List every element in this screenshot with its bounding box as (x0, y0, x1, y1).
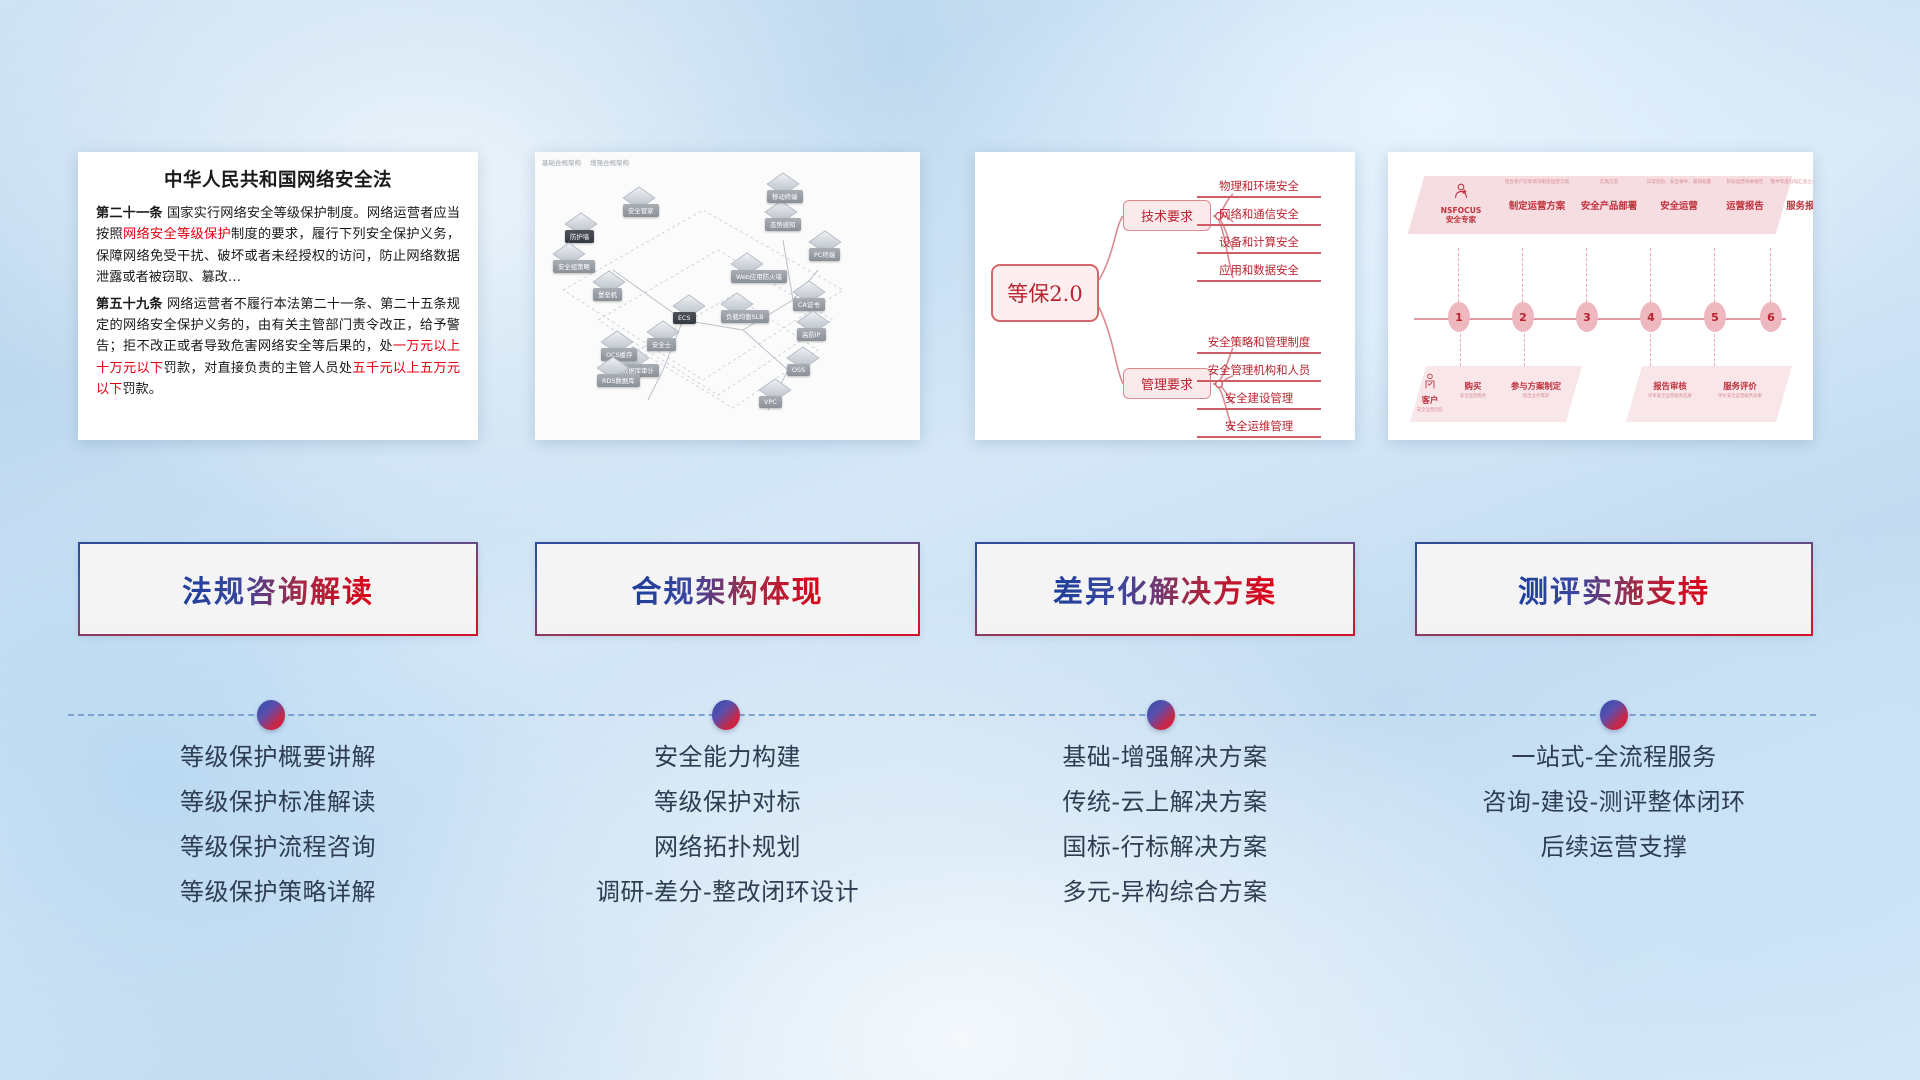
roadmap-step-1: 实施方案 安全产品部署 (1572, 180, 1646, 212)
roadmap-dash-1 (1522, 248, 1523, 302)
roadmap-dash-lower-3 (1714, 334, 1715, 366)
roadmap-dash-5 (1770, 248, 1771, 302)
mindmap-leaf-mgmt-2: 安全建设管理 (1197, 390, 1321, 410)
architecture-tab-1: 增强合规架构 (590, 157, 629, 167)
roadmap-dash-4 (1714, 248, 1715, 302)
list-item: 基础-增强解决方案 (975, 745, 1355, 769)
title-box-2[interactable]: 差异化解决方案 (975, 542, 1355, 636)
law-title: 中华人民共和国网络安全法 (96, 166, 460, 192)
mindmap-leaf-tech-0: 物理和环境安全 (1197, 178, 1321, 198)
architecture-node: RDS数据库 (597, 374, 640, 387)
roadmap-top-band-content: NSFOCUS 安全专家 结合客户实际情况制定运营方案 制定运营方案 实施方案 … (1416, 176, 1784, 234)
list-column-2: 基础-增强解决方案 传统-云上解决方案 国标-行标解决方案 多元-异构综合方案 (975, 745, 1355, 925)
roadmap-tag-1-sub: 提出业务需求 (1500, 394, 1572, 400)
architecture-tab-0: 基础合规架构 (542, 157, 581, 167)
timeline-dashed-line (68, 714, 1816, 716)
roadmap-tag-3-sub: 评价安全运营服务效果 (1706, 394, 1774, 400)
architecture-node: 高防IP (797, 328, 826, 341)
law-seg-2-4: 罚款。 (122, 382, 162, 397)
roadmap-canvas: NSFOCUS 安全专家 结合客户实际情况制定运营方案 制定运营方案 实施方案 … (1388, 152, 1813, 440)
architecture-node: 移动终端 (767, 190, 803, 203)
list-item: 等级保护对标 (535, 790, 920, 814)
roadmap-dash-lower-1 (1524, 334, 1525, 366)
roadmap-step-0-sub: 结合客户实际情况制定运营方案 (1500, 180, 1574, 186)
title-text-0: 法规咨询解读 (182, 567, 374, 611)
roadmap-dash-lower-0 (1460, 334, 1461, 366)
roadmap-step-4: 整半年度分吨汇总之总体运营效果 服务报告 (1768, 180, 1813, 212)
expert-person-icon (1451, 182, 1471, 202)
architecture-canvas: 基础合规架构 增强合规架构 (535, 152, 920, 440)
architecture-node: 态势感知 (765, 218, 801, 231)
timeline (0, 695, 1920, 735)
mindmap-root-node: 等保2.0 (991, 264, 1099, 322)
title-box-1[interactable]: 合规架构体现 (535, 542, 920, 636)
roadmap-step-4-title: 服务报告 (1768, 198, 1813, 212)
roadmap-step-1-sub: 实施方案 (1572, 180, 1646, 186)
title-box-row: 法规咨询解读 合规架构体现 差异化解决方案 测评实施支持 (0, 542, 1920, 642)
architecture-node: ECS (673, 312, 696, 324)
list-item: 调研-差分-整改闭环设计 (535, 880, 920, 904)
title-text-2: 差异化解决方案 (1053, 567, 1277, 611)
timeline-dot-0[interactable] (257, 700, 285, 730)
roadmap-dash-3 (1650, 248, 1651, 302)
roadmap-tag-1-title: 参与方案制定 (1500, 380, 1572, 392)
roadmap-step-2: 日常巡检、安全事件、漏洞处置 安全运营 (1642, 180, 1716, 212)
list-item: 咨询-建设-测评整体闭环 (1415, 790, 1813, 814)
timeline-dot-3[interactable] (1600, 700, 1628, 730)
list-column-1: 安全能力构建 等级保护对标 网络拓扑规划 调研-差分-整改闭环设计 (535, 745, 920, 925)
architecture-node: 安全组策略 (553, 260, 595, 273)
roadmap-tag-3: 服务评价 评价安全运营服务效果 (1706, 380, 1774, 400)
architecture-node: CA证书 (793, 298, 825, 311)
architecture-node: 堡垒机 (593, 288, 622, 301)
architecture-diagram-card: 基础合规架构 增强合规架构 (535, 152, 920, 440)
image-card-row: 中华人民共和国网络安全法 第二十一条 国家实行网络安全等级保护制度。网络运营者应… (0, 152, 1920, 440)
title-text-3: 测评实施支持 (1518, 567, 1710, 611)
mindmap-canvas: 等保2.0 技术要求 物理和环境安全 网络和通信安全 设备和计算安全 应用和数据… (975, 152, 1355, 440)
roadmap-step-0: 结合客户实际情况制定运营方案 制定运营方案 (1500, 180, 1574, 212)
roadmap-step-2-title: 安全运营 (1642, 198, 1716, 212)
roadmap-tag-3-title: 服务评价 (1706, 380, 1774, 392)
roadmap-dash-0 (1458, 248, 1459, 302)
architecture-node: VPC (759, 396, 782, 408)
mindmap-leaf-mgmt-1: 安全管理机构和人员 (1197, 362, 1321, 382)
roadmap-dash-2 (1586, 248, 1587, 302)
law-card-body: 中华人民共和国网络安全法 第二十一条 国家实行网络安全等级保护制度。网络运营者应… (78, 152, 478, 415)
roadmap-number-4: 4 (1640, 302, 1662, 332)
roadmap-expert-block: NSFOCUS 安全专家 (1430, 182, 1492, 225)
list-item: 多元-异构综合方案 (975, 880, 1355, 904)
roadmap-number-3: 3 (1576, 302, 1598, 332)
roadmap-customer-line2: 安全运营团队 (1406, 408, 1454, 414)
list-item: 一站式-全流程服务 (1415, 745, 1813, 769)
roadmap-tag-0: 购买 安全运营服务 (1446, 380, 1500, 400)
title-box-3[interactable]: 测评实施支持 (1415, 542, 1813, 636)
mindmap-leaf-tech-2: 设备和计算安全 (1197, 234, 1321, 254)
roadmap-expert-line2: 安全专家 (1430, 215, 1492, 224)
architecture-node: 安全管家 (623, 204, 659, 217)
roadmap-number-5: 5 (1704, 302, 1726, 332)
timeline-dot-1[interactable] (712, 700, 740, 730)
roadmap-tag-2-title: 报告审核 (1636, 380, 1704, 392)
architecture-node: OSS (787, 364, 810, 376)
list-item: 传统-云上解决方案 (975, 790, 1355, 814)
roadmap-dash-lower-2 (1650, 334, 1651, 366)
roadmap-step-0-title: 制定运营方案 (1500, 198, 1574, 212)
list-item: 等级保护策略详解 (78, 880, 478, 904)
law-article-label-1: 第二十一条 (96, 206, 163, 221)
roadmap-tag-0-sub: 安全运营服务 (1446, 394, 1500, 400)
roadmap-tag-1: 参与方案制定 提出业务需求 (1500, 380, 1572, 400)
law-seg-1-1: 网络安全等级保护 (123, 227, 231, 242)
law-article-label-2: 第五十九条 (96, 297, 163, 312)
mindmap-leaf-mgmt-0: 安全策略和管理制度 (1197, 334, 1321, 354)
law-text-card: 中华人民共和国网络安全法 第二十一条 国家实行网络安全等级保护制度。网络运营者应… (78, 152, 478, 440)
architecture-node: 负载均衡SLB (721, 310, 769, 323)
architecture-node: PC终端 (809, 248, 840, 261)
list-item: 后续运营支撑 (1415, 835, 1813, 859)
roadmap-step-4-sub: 整半年度分吨汇总之总体运营效果 (1768, 180, 1813, 186)
roadmap-tag-0-title: 购买 (1446, 380, 1500, 392)
law-paragraph-2: 第五十九条 网络运营者不履行本法第二十一条、第二十五条规定的网络安全保护义务的，… (96, 294, 460, 401)
list-column-0: 等级保护概要讲解 等级保护标准解读 等级保护流程咨询 等级保护策略详解 (78, 745, 478, 925)
list-item: 安全能力构建 (535, 745, 920, 769)
list-item: 等级保护标准解读 (78, 790, 478, 814)
roadmap-step-1-title: 安全产品部署 (1572, 198, 1646, 212)
list-item: 网络拓扑规划 (535, 835, 920, 859)
customer-person-icon (1422, 372, 1438, 390)
title-box-0[interactable]: 法规咨询解读 (78, 542, 478, 636)
mindmap-leaf-tech-3: 应用和数据安全 (1197, 262, 1321, 282)
timeline-dot-2[interactable] (1147, 700, 1175, 730)
list-item: 等级保护流程咨询 (78, 835, 478, 859)
mindmap-card: 等保2.0 技术要求 物理和环境安全 网络和通信安全 设备和计算安全 应用和数据… (975, 152, 1355, 440)
architecture-node: 防护墙 (565, 230, 594, 243)
bullet-list-row: 等级保护概要讲解 等级保护标准解读 等级保护流程咨询 等级保护策略详解 安全能力… (0, 745, 1920, 945)
law-seg-2-2: 罚款，对直接负责的主管人员处 (163, 361, 352, 376)
architecture-node: Web应用防火墙 (731, 270, 787, 283)
roadmap-step-2-sub: 日常巡检、安全事件、漏洞处置 (1642, 180, 1716, 186)
roadmap-number-6: 6 (1760, 302, 1782, 332)
architecture-node: 安全士 (647, 338, 676, 351)
roadmap-tag-2: 报告审核 评审安全运营服务成果 (1636, 380, 1704, 400)
title-text-1: 合规架构体现 (632, 567, 824, 611)
service-roadmap-card: NSFOCUS 安全专家 结合客户实际情况制定运营方案 制定运营方案 实施方案 … (1388, 152, 1813, 440)
roadmap-number-1: 1 (1448, 302, 1470, 332)
list-item: 国标-行标解决方案 (975, 835, 1355, 859)
list-column-3: 一站式-全流程服务 咨询-建设-测评整体闭环 后续运营支撑 (1415, 745, 1813, 880)
mindmap-leaf-tech-1: 网络和通信安全 (1197, 206, 1321, 226)
mindmap-leaf-mgmt-3: 安全运维管理 (1197, 418, 1321, 438)
law-paragraph-1: 第二十一条 国家实行网络安全等级保护制度。网络运营者应当按照网络安全等级保护制度… (96, 203, 460, 289)
list-item: 等级保护概要讲解 (78, 745, 478, 769)
roadmap-tag-2-sub: 评审安全运营服务成果 (1636, 394, 1704, 400)
roadmap-number-2: 2 (1512, 302, 1534, 332)
architecture-tabs: 基础合规架构 增强合规架构 (542, 157, 629, 167)
